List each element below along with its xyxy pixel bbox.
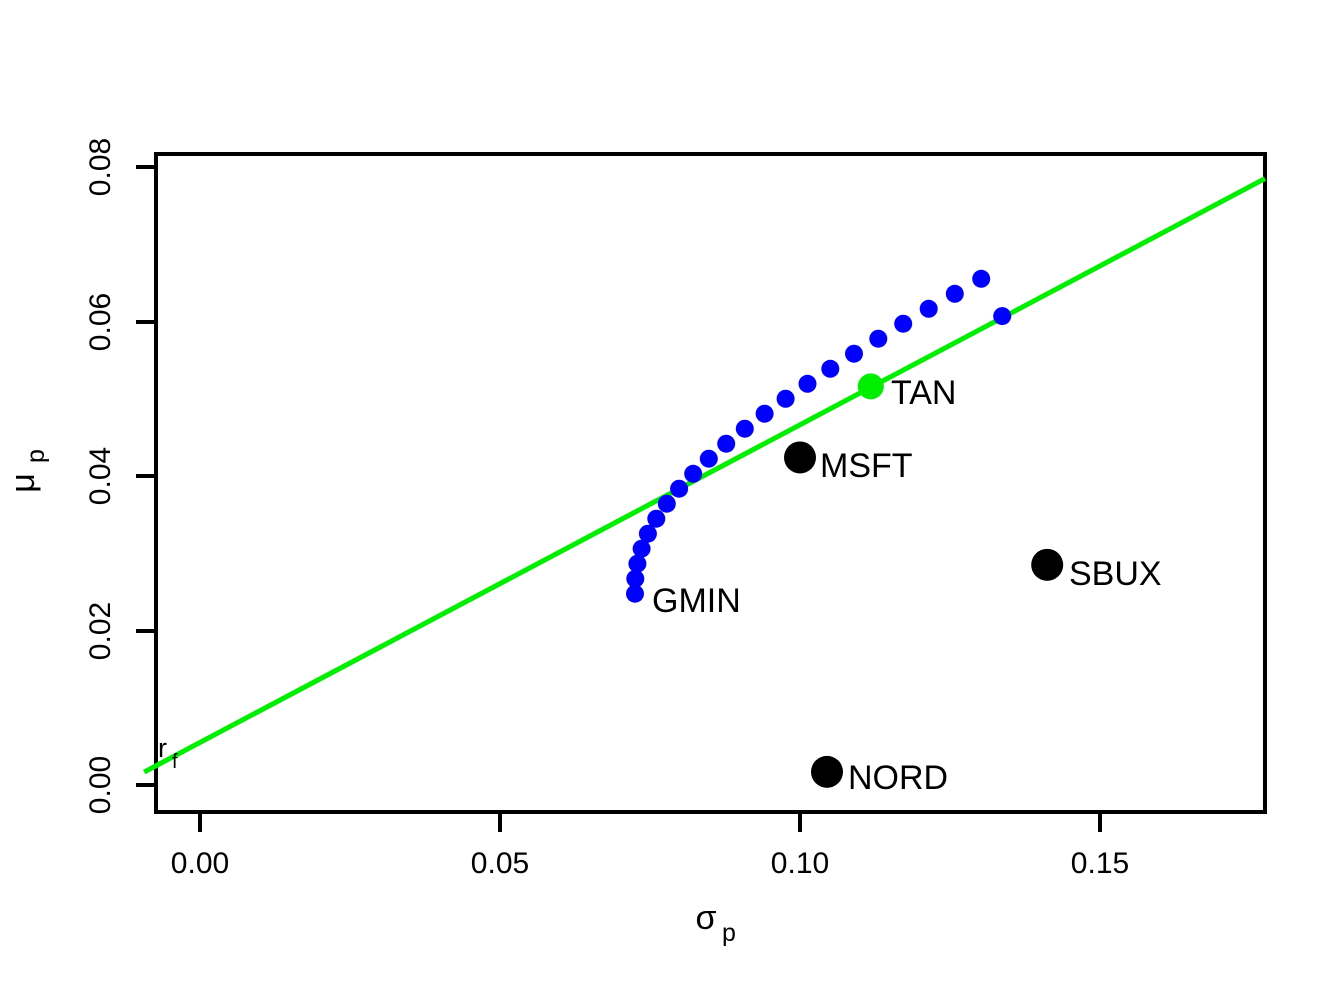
efficient-frontier-point-9 (700, 450, 718, 468)
y-axis-title-glyph: μ (4, 473, 42, 493)
efficient-frontier-point-10 (717, 435, 735, 453)
x-tick-label-0.05: 0.05 (471, 847, 529, 880)
efficient-frontier-point-15 (821, 360, 839, 378)
sbux-point (1031, 549, 1063, 581)
x-tick-label-0.10: 0.10 (771, 847, 829, 880)
y-tick-label-0.02: 0.02 (84, 602, 117, 660)
msft-label: MSFT (820, 447, 913, 485)
sbux-label: SBUX (1069, 555, 1162, 593)
efficient-frontier-point-22 (993, 307, 1011, 325)
plot-canvas: 0.08 0.06 0.04 0.02 0.00 μ p 0.00 0.05 0… (0, 0, 1344, 1008)
msft-point (784, 441, 816, 473)
y-tick-label-0.06: 0.06 (84, 293, 117, 351)
efficient-frontier-point-5 (647, 510, 665, 528)
y-tick-label-0.00: 0.00 (84, 756, 117, 814)
efficient-frontier-point-13 (777, 390, 795, 408)
efficient-frontier-point-19 (920, 300, 938, 318)
tan-label: TAN (891, 374, 956, 412)
x-tick-label-0.15: 0.15 (1071, 847, 1129, 880)
rf-label-subscript: f (172, 751, 178, 773)
efficient-frontier-point-12 (756, 405, 774, 423)
y-tick-label-0.04: 0.04 (84, 447, 117, 505)
efficient-frontier-point-21 (972, 270, 990, 288)
efficient-frontier-point-20 (946, 285, 964, 303)
nord-point (811, 756, 843, 788)
efficient-frontier-point-14 (799, 375, 817, 393)
x-axis-title-subscript: p (722, 919, 736, 947)
y-axis-title-subscript: p (22, 449, 50, 463)
x-axis-title-glyph: σ (696, 899, 717, 937)
portfolio-frontier-chart: 0.08 0.06 0.04 0.02 0.00 μ p 0.00 0.05 0… (0, 0, 1344, 1008)
nord-label: NORD (848, 759, 948, 797)
tan-point (858, 373, 884, 399)
efficient-frontier-point-17 (869, 330, 887, 348)
efficient-frontier-point-16 (845, 345, 863, 363)
efficient-frontier-point-7 (670, 480, 688, 498)
rf-label: r (158, 733, 167, 763)
efficient-frontier-point-11 (736, 420, 754, 438)
efficient-frontier-point-8 (684, 465, 702, 483)
efficient-frontier-point-1 (626, 570, 644, 588)
tangency-portfolio-group (858, 373, 884, 399)
x-tick-label-0.00: 0.00 (171, 847, 229, 880)
y-tick-label-0.08: 0.08 (84, 138, 117, 196)
efficient-frontier-point-6 (658, 495, 676, 513)
efficient-frontier-point-18 (894, 315, 912, 333)
gmin-label: GMIN (652, 582, 741, 620)
